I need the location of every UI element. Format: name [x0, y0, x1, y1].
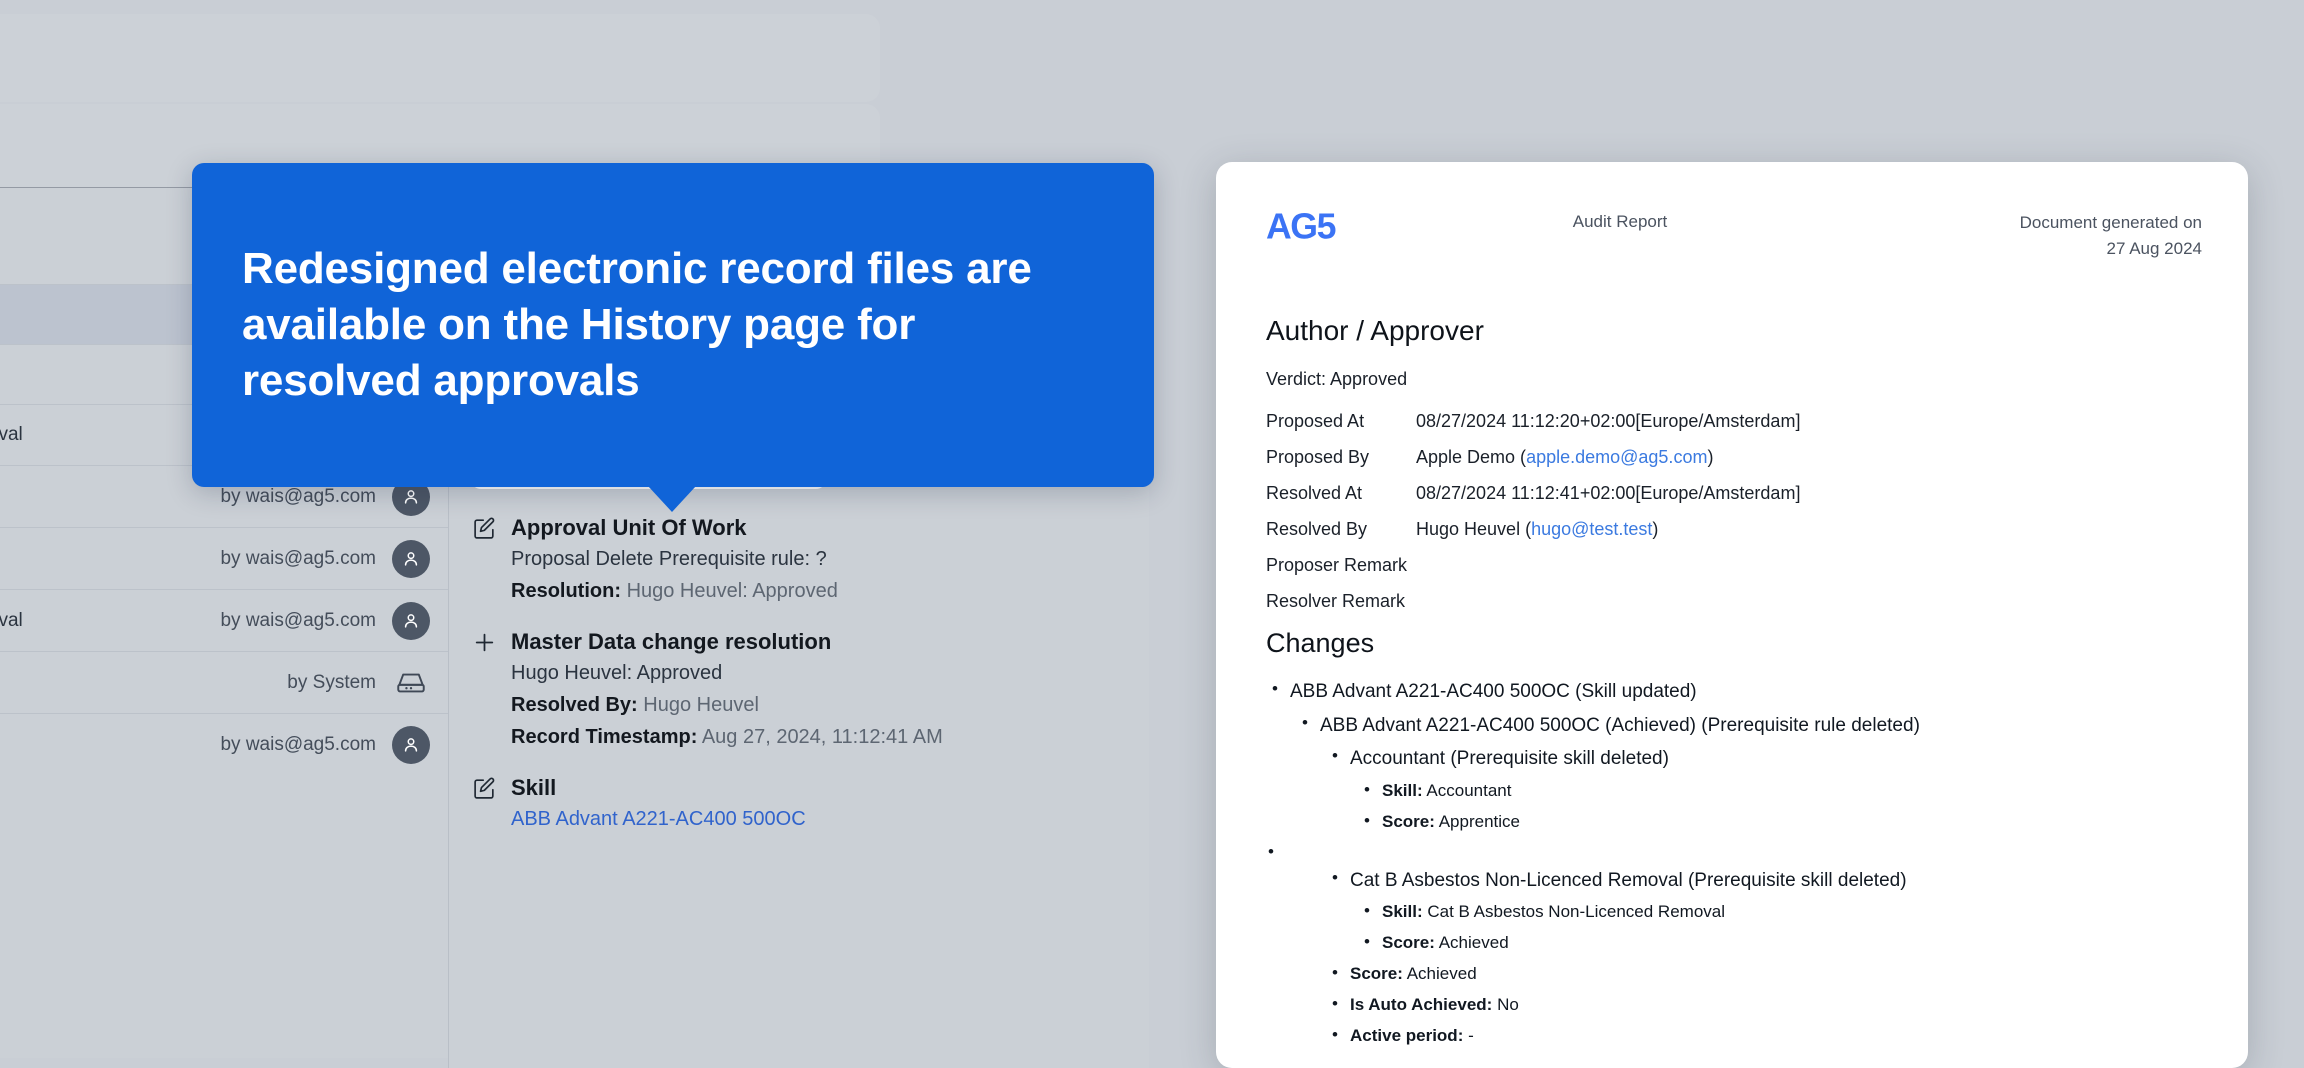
- item-value: -: [1468, 1026, 1474, 1045]
- meta-value: 08/27/2024 11:12:20+02:00[Europe/Amsterd…: [1416, 412, 2202, 430]
- background-toolbar-card: [0, 14, 880, 102]
- edit-icon: [471, 515, 497, 541]
- audit-report-document: AG5 Audit Report Document generated on 2…: [1216, 162, 2248, 1068]
- field-key: Record Timestamp:: [511, 726, 697, 748]
- document-type-label: Audit Report: [1378, 202, 1922, 232]
- avatar: [392, 602, 430, 640]
- ag5-logo: AG5: [1266, 202, 1378, 248]
- meta-value-prefix: Hugo Heuvel (: [1416, 519, 1531, 539]
- meta-value-suffix: ): [1707, 447, 1713, 467]
- edit-icon: [471, 775, 497, 801]
- changes-list: ABB Advant A221-AC400 500OC (Skill updat…: [1266, 679, 2202, 1048]
- meta-key: Proposer Remark: [1266, 556, 1416, 574]
- server-icon: [392, 668, 430, 698]
- metadata-table: Proposed At 08/27/2024 11:12:20+02:00[Eu…: [1266, 412, 2202, 610]
- item-value: Accountant: [1426, 781, 1511, 800]
- item-key: Is Auto Achieved:: [1350, 995, 1492, 1014]
- field-value: Aug 27, 2024, 11:12:41 AM: [702, 726, 943, 748]
- section-title: Skill: [511, 775, 556, 801]
- list-item: Accountant (Prerequisite skill deleted): [1330, 746, 2202, 772]
- document-header: AG5 Audit Report Document generated on 2…: [1266, 202, 2202, 261]
- section-title: Approval Unit Of Work: [511, 515, 747, 541]
- item-key: Score:: [1382, 933, 1435, 952]
- meta-key: Resolved By: [1266, 520, 1416, 538]
- field-resolved-by: Resolved By: Hugo Heuvel: [511, 694, 1131, 717]
- skill-link[interactable]: ABB Advant A221-AC400 500OC: [511, 808, 1131, 831]
- table-row[interactable]: by wais@ag5.com: [0, 714, 448, 776]
- table-row[interactable]: …proval by wais@ag5.com: [0, 590, 448, 652]
- list-item: ABB Advant A221-AC400 500OC (Skill updat…: [1270, 679, 2202, 705]
- list-item: Active period: -: [1330, 1025, 2202, 1048]
- row-title: …proval: [0, 424, 23, 446]
- list-item: Score: Apprentice: [1362, 811, 2202, 834]
- field-value: Hugo Heuvel: Approved: [627, 580, 838, 602]
- meta-value-prefix: Apple Demo (: [1416, 447, 1526, 467]
- row-author: by wais@ag5.com: [220, 610, 376, 632]
- list-item: Skill: Cat B Asbestos Non-Licenced Remov…: [1362, 901, 2202, 924]
- field-record-timestamp: Record Timestamp: Aug 27, 2024, 11:12:41…: [511, 726, 1131, 749]
- item-key: Skill:: [1382, 781, 1423, 800]
- section-title: Master Data change resolution: [511, 629, 831, 655]
- item-key: Score:: [1350, 964, 1403, 983]
- field-value: Hugo Heuvel: [643, 694, 759, 716]
- field-key: Resolution:: [511, 580, 621, 602]
- meta-row: Resolved At 08/27/2024 11:12:41+02:00[Eu…: [1266, 484, 2202, 502]
- section-approval-unit-of-work: Approval Unit Of Work Proposal Delete Pr…: [471, 515, 1131, 603]
- meta-key: Resolver Remark: [1266, 592, 1416, 610]
- meta-value: 08/27/2024 11:12:41+02:00[Europe/Amsterd…: [1416, 484, 2202, 502]
- row-author: by wais@ag5.com: [220, 734, 376, 756]
- meta-value: [1416, 592, 2202, 610]
- list-item: Score: Achieved: [1362, 932, 2202, 955]
- item-key: Score:: [1382, 812, 1435, 831]
- changes-heading: Changes: [1266, 628, 2202, 659]
- row-author: by System: [287, 672, 376, 694]
- spacer: [1266, 842, 2202, 868]
- meta-value: Hugo Heuvel (hugo@test.test): [1416, 520, 2202, 538]
- section-subtitle: Proposal Delete Prerequisite rule: ?: [511, 548, 1131, 571]
- screenshot-stage: …proval by wais@ag5.com by wais@ag5.com: [0, 0, 2304, 1068]
- field-key: Resolved By:: [511, 694, 638, 716]
- item-value: Achieved: [1439, 933, 1509, 952]
- row-author: by wais@ag5.com: [220, 548, 376, 570]
- meta-row: Proposed At 08/27/2024 11:12:20+02:00[Eu…: [1266, 412, 2202, 430]
- field-resolution: Resolution: Hugo Heuvel: Approved: [511, 580, 1131, 603]
- feature-callout: Redesigned electronic record files are a…: [192, 163, 1154, 487]
- item-key: Skill:: [1382, 902, 1423, 921]
- meta-key: Resolved At: [1266, 484, 1416, 502]
- meta-value-suffix: ): [1652, 519, 1658, 539]
- email-link[interactable]: hugo@test.test: [1531, 519, 1652, 539]
- list-item: Score: Achieved: [1330, 963, 2202, 986]
- meta-row: Resolver Remark: [1266, 592, 2202, 610]
- generated-label: Document generated on: [1922, 210, 2202, 236]
- row-author: by wais@ag5.com: [220, 486, 376, 508]
- meta-key: Proposed By: [1266, 448, 1416, 466]
- section-master-data-change-resolution: Master Data change resolution Hugo Heuve…: [471, 629, 1131, 749]
- section-subtitle: Hugo Heuvel: Approved: [511, 662, 1131, 685]
- section-skill: Skill ABB Advant A221-AC400 500OC: [471, 775, 1131, 831]
- callout-text: Redesigned electronic record files are a…: [242, 241, 1104, 410]
- list-item: Skill: Accountant: [1362, 780, 2202, 803]
- meta-row: Resolved By Hugo Heuvel (hugo@test.test): [1266, 520, 2202, 538]
- list-item: Is Auto Achieved: No: [1330, 994, 2202, 1017]
- meta-value: [1416, 556, 2202, 574]
- document-generated-info: Document generated on 27 Aug 2024: [1922, 202, 2202, 261]
- table-row[interactable]: by wais@ag5.com: [0, 528, 448, 590]
- page-title: Author / Approver: [1266, 315, 2202, 347]
- item-key: Active period:: [1350, 1026, 1463, 1045]
- meta-row: Proposed By Apple Demo (apple.demo@ag5.c…: [1266, 448, 2202, 466]
- item-value: Achieved: [1407, 964, 1477, 983]
- callout-arrow: [648, 486, 696, 512]
- avatar: [392, 726, 430, 764]
- svg-text:AG5: AG5: [1266, 207, 1336, 247]
- list-item: ABB Advant A221-AC400 500OC (Achieved) (…: [1300, 713, 2202, 739]
- verdict-text: Verdict: Approved: [1266, 369, 2202, 390]
- generated-date: 27 Aug 2024: [1922, 236, 2202, 262]
- meta-row: Proposer Remark: [1266, 556, 2202, 574]
- avatar: [392, 540, 430, 578]
- meta-key: Proposed At: [1266, 412, 1416, 430]
- item-value: No: [1497, 995, 1519, 1014]
- table-row[interactable]: by System: [0, 652, 448, 714]
- list-item: Cat B Asbestos Non-Licenced Removal (Pre…: [1330, 868, 2202, 894]
- plus-icon: [471, 629, 497, 655]
- email-link[interactable]: apple.demo@ag5.com: [1526, 447, 1707, 467]
- item-value: Apprentice: [1439, 812, 1520, 831]
- item-value: Cat B Asbestos Non-Licenced Removal: [1427, 902, 1725, 921]
- meta-value: Apple Demo (apple.demo@ag5.com): [1416, 448, 2202, 466]
- row-title: …proval: [0, 610, 23, 632]
